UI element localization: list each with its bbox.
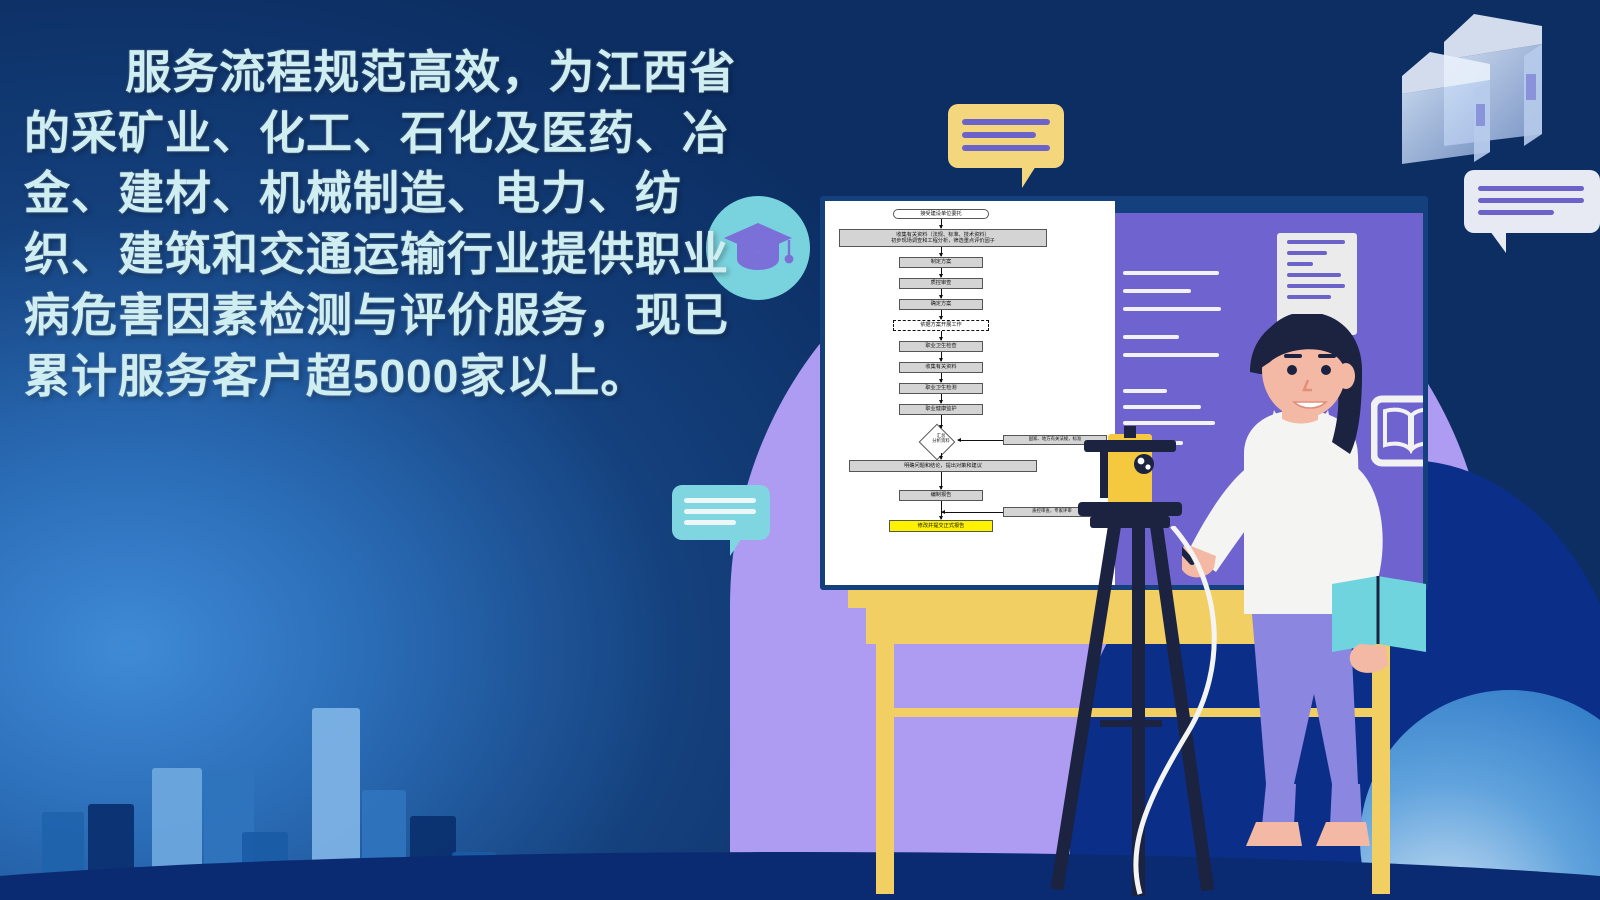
- flow-node-n4: 质控审查: [899, 278, 983, 289]
- headline-line-6: 累计服务客户超5000家以上。: [24, 346, 784, 407]
- chalk-line: [1123, 335, 1179, 339]
- flow-node-n7: 职业卫生检查: [899, 341, 983, 352]
- bubble-tail: [730, 538, 742, 556]
- poster-line: [1287, 251, 1327, 255]
- teal-chat-bubble: [672, 485, 770, 540]
- headline-line-3: 金、建材、机械制造、电力、纺: [24, 163, 784, 224]
- flow-arrow: [941, 219, 942, 228]
- flow-node-n14: 修改并提交正式报告: [889, 520, 993, 532]
- poster-line: [1287, 240, 1345, 244]
- headline-line-4: 织、建筑和交通运输行业提供职业: [24, 224, 784, 285]
- flow-arrow: [941, 289, 942, 298]
- bubble-line: [684, 520, 736, 525]
- flow-node-n13: 编制报告: [899, 490, 983, 501]
- poster-line: [1287, 273, 1341, 277]
- bubble-line: [1478, 210, 1554, 215]
- headline-line-2: 的采矿业、化工、石化及医药、冶: [24, 103, 784, 164]
- flow-node-n2: 收集有关资料（法规、标准、技术资料） 初步现场调查和工程分析，筛选重点评价因子: [839, 229, 1047, 247]
- headline-text: 服务流程规范高效，为江西省 的采矿业、化工、石化及医药、冶 金、建材、机械制造、…: [24, 42, 784, 406]
- flow-node-n8: 收集有关资料: [899, 362, 983, 373]
- desk-leg-left: [876, 644, 894, 894]
- instrument-cable: [1120, 526, 1260, 896]
- stacked-books-icon: [1374, 4, 1594, 194]
- flow-node-n3: 制定方案: [899, 257, 983, 268]
- board-top-rail: [1115, 201, 1428, 213]
- yellow-chat-bubble: [948, 104, 1064, 168]
- bubble-line: [962, 132, 1036, 138]
- bubble-line: [684, 498, 756, 503]
- bubble-line: [1478, 198, 1584, 203]
- headline-line-1: 服务流程规范高效，为江西省: [24, 42, 784, 103]
- flow-arrow: [941, 352, 942, 361]
- flow-node-n5: 确定方案: [899, 299, 983, 310]
- flow-arrow: [941, 268, 942, 277]
- bubble-line: [962, 119, 1050, 125]
- flow-arrow: [941, 310, 942, 319]
- light-chat-bubble: [1464, 170, 1600, 233]
- bubble-line: [1478, 186, 1584, 191]
- flow-arrow: [941, 331, 942, 340]
- flow-side-connector: [942, 512, 1003, 513]
- classroom-illustration: 接受建设单位委托收集有关资料（法规、标准、技术资料） 初步现场调查和工程分析，筛…: [820, 196, 1600, 900]
- flow-arrow: [941, 415, 942, 428]
- poster-line: [1287, 262, 1313, 266]
- flow-node-n6: 依据方案开展工作: [893, 320, 989, 331]
- chalk-line: [1123, 307, 1221, 311]
- flow-node-n9: 职业卫生检测: [899, 383, 983, 394]
- bubble-line: [684, 509, 756, 514]
- poster-canvas: 服务流程规范高效，为江西省 的采矿业、化工、石化及医药、冶 金、建材、机械制造、…: [0, 0, 1600, 900]
- flow-arrow: [941, 472, 942, 489]
- background-bar-chart: [0, 480, 460, 900]
- chalk-line: [1123, 271, 1219, 275]
- flow-node-n10: 职业健康监护: [899, 404, 983, 415]
- flow-arrow: [941, 373, 942, 382]
- flow-arrow: [941, 247, 942, 256]
- flow-side-connector: [958, 440, 1003, 441]
- chalk-line: [1123, 289, 1191, 293]
- flow-arrow: [941, 453, 942, 459]
- flow-node-n12: 明确问题和结论，提出对策和建议: [849, 460, 1037, 472]
- headline-line-5: 病危害因素检测与评价服务，现已: [24, 285, 784, 346]
- bubble-tail: [1022, 166, 1036, 188]
- flow-node-n1: 接受建设单位委托: [893, 209, 989, 219]
- held-book-icon: [1332, 576, 1426, 652]
- chalk-line: [1123, 389, 1167, 393]
- poster-line: [1287, 284, 1345, 288]
- bubble-line: [962, 145, 1050, 151]
- poster-line: [1287, 295, 1331, 299]
- flow-arrow: [941, 394, 942, 403]
- bubble-tail: [1490, 231, 1506, 253]
